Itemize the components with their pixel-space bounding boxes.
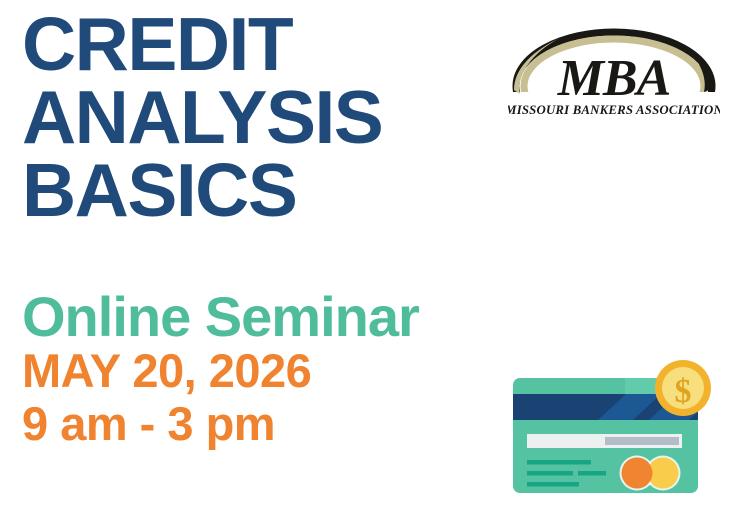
seminar-date: MAY 20, 2026 <box>22 345 512 398</box>
logo-acronym: MBA <box>557 50 671 107</box>
headline-line-3: BASICS <box>22 154 492 227</box>
mba-logo: MBA MISSOURI BANKERS ASSOCIATION <box>508 22 720 122</box>
logo-organization-name: MISSOURI BANKERS ASSOCIATION <box>508 103 720 117</box>
flyer-details: Online Seminar MAY 20, 2026 9 am - 3 pm <box>22 288 512 450</box>
seminar-time: 9 am - 3 pm <box>22 398 512 451</box>
credit-card-illustration: $ <box>505 352 720 502</box>
headline-line-1: CREDIT <box>22 8 492 81</box>
card-signature-bar <box>605 437 679 445</box>
headline-line-2: ANALYSIS <box>22 81 492 154</box>
credit-card-icon: $ <box>505 352 720 502</box>
mba-logo-icon: MBA MISSOURI BANKERS ASSOCIATION <box>508 22 720 122</box>
dollar-sign-label: $ <box>675 373 692 410</box>
flyer-headline: CREDIT ANALYSIS BASICS <box>22 8 492 226</box>
dollar-coin-icon: $ <box>655 360 711 416</box>
seminar-flyer: CREDIT ANALYSIS BASICS Online Seminar MA… <box>0 0 750 525</box>
seminar-format-label: Online Seminar <box>22 288 512 345</box>
